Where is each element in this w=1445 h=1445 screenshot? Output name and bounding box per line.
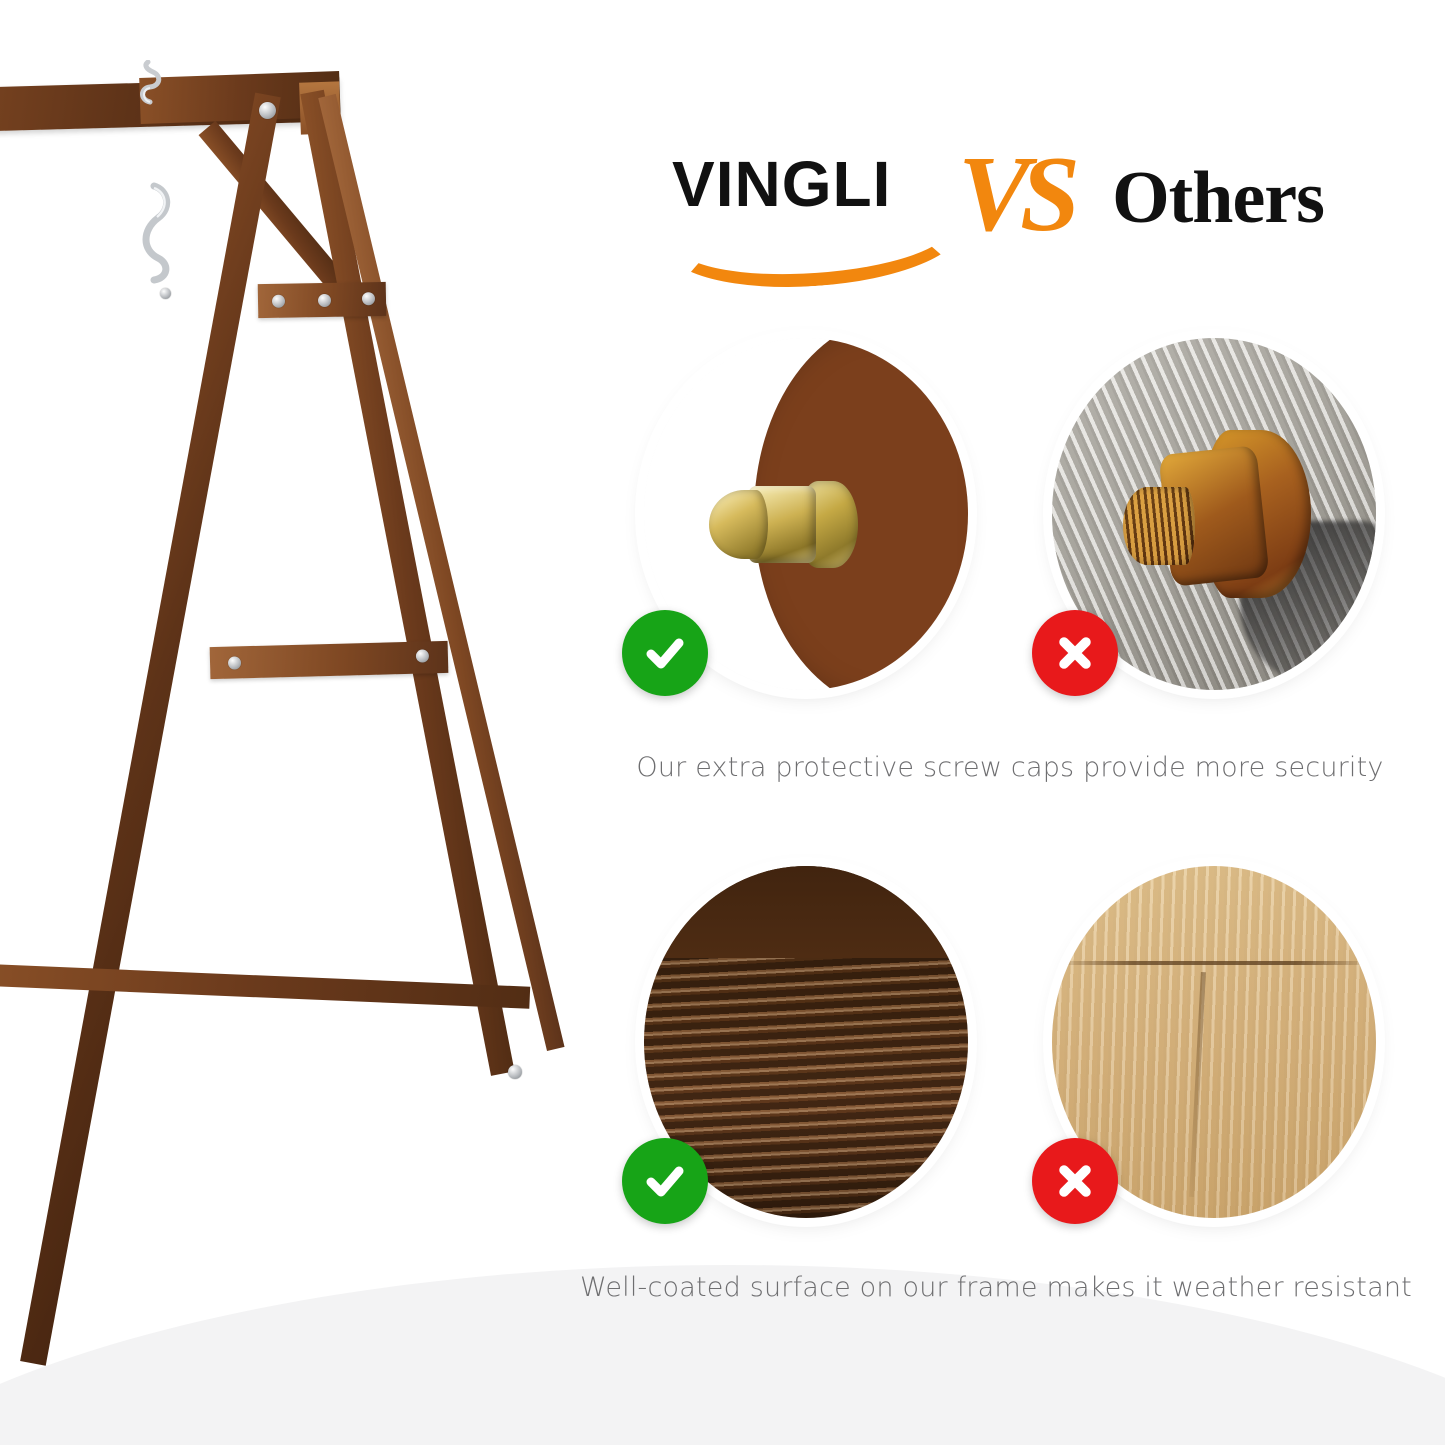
rusty-thread	[1123, 487, 1194, 565]
rear-leg-outer	[318, 94, 564, 1051]
check-icon	[622, 610, 708, 696]
rusty-bolt	[1123, 430, 1311, 599]
bolt-icon	[318, 294, 331, 307]
bolt-icon	[362, 292, 375, 305]
bolt-icon	[416, 649, 429, 662]
wood-crack	[1052, 961, 1376, 965]
bolt-icon	[508, 1065, 522, 1079]
s-hook-icon	[128, 178, 182, 288]
caption-screw-caps: Our extra protective screw caps provide …	[600, 752, 1420, 783]
vingli-logo: VINGLI	[672, 140, 940, 255]
bolt-icon	[228, 656, 241, 669]
bolt-icon	[160, 288, 171, 299]
dome-cap	[709, 490, 769, 560]
rear-leg	[300, 90, 514, 1076]
caption-coating: Well-coated surface on our frame makes i…	[580, 1272, 1400, 1303]
comparison-row-screw-caps	[600, 338, 1420, 690]
coated-wood-top-band	[644, 866, 968, 958]
bolt-icon	[259, 102, 276, 119]
competitor-name: Others	[1112, 161, 1324, 235]
brand-name: VINGLI	[672, 152, 891, 216]
wood-crack-vertical	[1189, 972, 1206, 1197]
bolt-icon	[272, 295, 285, 308]
mid-cross-brace	[210, 641, 449, 679]
s-hook-icon	[138, 60, 174, 106]
lower-cross-brace	[0, 963, 530, 1008]
vs-mark: VS	[958, 141, 1070, 249]
brass-screw-cap	[709, 479, 858, 571]
cross-icon	[1032, 610, 1118, 696]
cross-icon	[1032, 1138, 1118, 1224]
comparison-row-coating	[600, 866, 1420, 1218]
comparison-infographic: VINGLI VS Others	[0, 0, 1445, 1445]
upper-cross-brace	[258, 282, 387, 318]
product-photo-swing-stand	[0, 0, 640, 1445]
brand-logo-header: VINGLI VS Others	[672, 140, 1352, 255]
check-icon	[622, 1138, 708, 1224]
